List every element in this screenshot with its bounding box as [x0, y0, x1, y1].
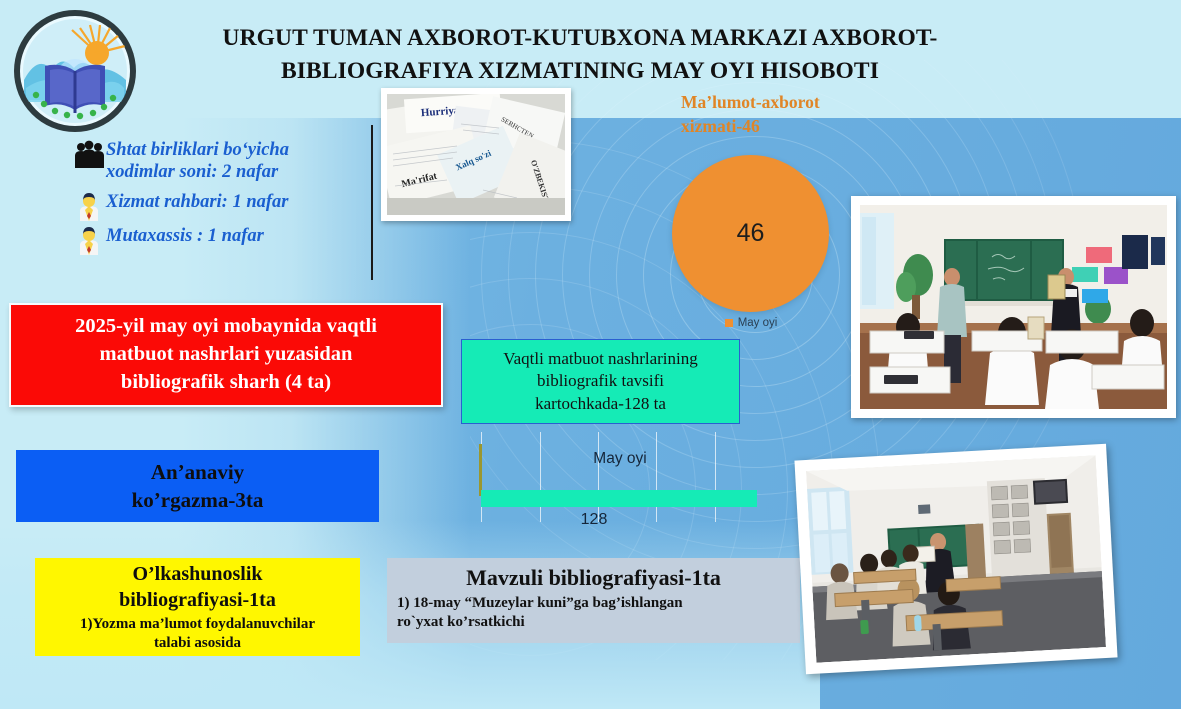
list-item-label: Mutaxassis : 1 nafar: [106, 226, 264, 248]
pie-slice-may-oyi: 46: [672, 155, 829, 312]
pie-chart: 46 May oyi: [661, 155, 841, 335]
bar-series-may-oyi: [481, 490, 757, 507]
urgut-library-emblem-icon: [12, 8, 138, 134]
list-item: Shtat birliklari bo‘yicha xodimlar soni:…: [72, 140, 372, 184]
legend-label: May oyi: [738, 317, 778, 329]
infographic-slide: URGUT TUMAN AXBOROT-KUTUBXONA MARKAZI AX…: [0, 0, 1181, 709]
page-title: URGUT TUMAN AXBOROT-KUTUBXONA MARKAZI AX…: [195, 22, 965, 89]
box-subtext: 1)Yozma ma’lumot foydalanuvchilar talabi…: [80, 615, 315, 652]
gridline: [715, 432, 716, 522]
box-heading: Mavzuli bibliografiyasi-1ta: [397, 565, 790, 591]
vertical-divider: [371, 125, 373, 280]
box-heading: O’lkashunoslik bibliografiyasi-1ta: [119, 561, 276, 613]
staff-summary-list: Shtat birliklari bo‘yicha xodimlar soni:…: [72, 140, 372, 257]
legend-swatch-icon: [725, 319, 733, 327]
traditional-exhibition-box: An’anaviy ko’rgazma-3ta: [16, 450, 379, 522]
local-studies-bibliography-box: O’lkashunoslik bibliografiyasi-1ta 1)Yoz…: [35, 558, 360, 656]
bar-chart: May oyi 128: [470, 432, 770, 537]
person-female-icon: [72, 226, 106, 256]
bar-series-label: May oyi: [470, 450, 770, 468]
group-people-icon: [72, 140, 106, 170]
pie-chart-title: Ma’lumot-axborot xizmati-46: [681, 90, 921, 138]
list-item-label: Xizmat rahbari: 1 nafar: [106, 192, 288, 214]
pie-data-label: 46: [737, 219, 765, 248]
newspapers-photo: Hurriyat SERHCTEN Ma'rifat Xalq so'zi O'…: [381, 88, 571, 221]
classroom-presentation-photo: [851, 196, 1176, 418]
bibliographic-review-box: 2025-yil may oyi mobaynida vaqtli matbuo…: [9, 303, 443, 407]
thematic-bibliography-box: Mavzuli bibliografiyasi-1ta 1) 18-may “M…: [387, 558, 800, 643]
bar-data-label: 128: [470, 511, 718, 529]
gridline: [598, 432, 599, 522]
person-female-icon: [72, 192, 106, 222]
pie-chart-legend: May oyi: [661, 317, 841, 329]
bibliographic-description-card: Vaqtli matbuot nashrlarining bibliografi…: [461, 339, 740, 424]
classroom-lecture-photo: [794, 444, 1117, 675]
gridline: [540, 432, 541, 522]
list-item: Mutaxassis : 1 nafar: [72, 226, 372, 256]
list-item-label: Shtat birliklari bo‘yicha xodimlar soni:…: [106, 140, 289, 184]
gridline: [656, 432, 657, 522]
box-subtext: 1) 18-may “Muzeylar kuni”ga bag’ishlanga…: [397, 594, 683, 632]
list-item: Xizmat rahbari: 1 nafar: [72, 192, 372, 222]
